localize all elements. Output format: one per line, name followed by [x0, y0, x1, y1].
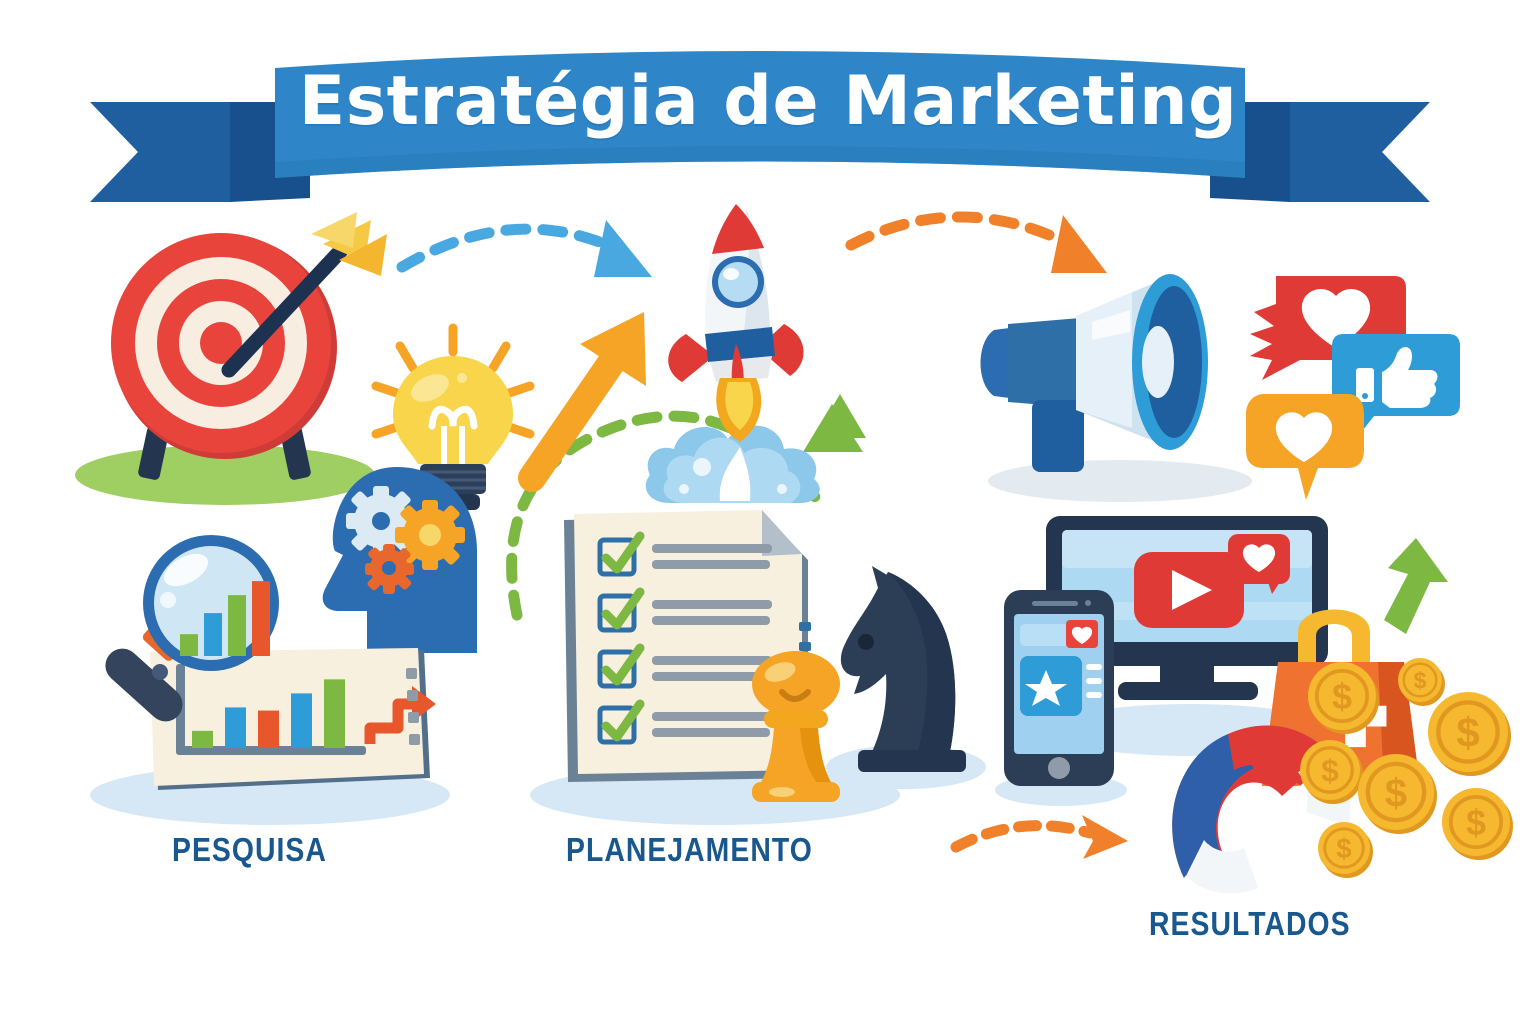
arrow-pesquisa-to-planejamento: [390, 195, 680, 305]
coin-2: $: [1398, 658, 1445, 706]
coin-4: $: [1300, 740, 1363, 804]
arrow-to-resultados-bottom: [950, 805, 1140, 875]
cloud-hole-1: [693, 458, 711, 476]
rocket-nose: [712, 204, 764, 254]
arrow-growth-orange: [508, 300, 658, 490]
checklist-line-2-1: [652, 600, 772, 609]
knight-base: [858, 750, 966, 772]
dashed-arc-blue: [402, 229, 612, 267]
cloud-hole-3: [777, 484, 787, 494]
monitor-base: [1118, 682, 1258, 700]
knight-nostril: [858, 634, 874, 650]
magnifier-icon: [88, 528, 308, 738]
checklist-line-1-1: [652, 544, 772, 553]
chess-pawn-icon: [736, 648, 856, 808]
porthole-glare: [723, 268, 739, 280]
play-button-icon: [1134, 552, 1244, 628]
cloud-hole-2: [679, 484, 689, 494]
pawn-collar: [764, 710, 828, 728]
coin-1: $: [1308, 662, 1379, 734]
bulb-glass: [393, 356, 513, 464]
phone-heart-badge: [1066, 620, 1098, 648]
coin-3: $: [1428, 692, 1511, 776]
stage-label-pesquisa: PESQUISA: [172, 831, 327, 869]
phone-list-lines: [1086, 664, 1102, 698]
head-gears-icon: [305, 455, 485, 665]
coin-symbol-6: $: [1466, 803, 1486, 843]
coin-symbol-7: $: [1336, 833, 1351, 864]
rocket-porthole-glass: [718, 262, 758, 302]
dashed-arc-orange-2: [956, 826, 1090, 847]
checklist-line-2-2: [652, 616, 770, 625]
megaphone-handle-block: [1008, 318, 1080, 408]
coin-7: $: [1318, 822, 1373, 878]
coin-symbol-2: $: [1414, 667, 1427, 693]
smartphone-icon: [996, 586, 1126, 806]
dart-shaft: [229, 244, 347, 370]
bulb-highlight-dot: [457, 373, 467, 383]
banner-left-tail: [90, 102, 230, 202]
infographic-canvas: Estratégia de Marketing: [0, 0, 1536, 1024]
magnifier-handle-dot: [152, 664, 168, 680]
stage-label-resultados: RESULTADOS: [1149, 905, 1351, 943]
rocket-icon: [658, 196, 823, 446]
heart-bubble-orange-icon: [1240, 388, 1370, 508]
coin-symbol-1: $: [1332, 677, 1352, 717]
coin-symbol-5: $: [1385, 771, 1407, 815]
arrow-growth-green: [810, 390, 870, 450]
lens-bar-1: [180, 634, 198, 656]
lens-glare-2: [160, 592, 176, 608]
phone-camera: [1085, 600, 1091, 606]
megaphone-bell-core: [1142, 326, 1174, 398]
checklist-line-1-2: [652, 560, 770, 569]
phone-speaker: [1032, 601, 1078, 606]
megaphone-grip-2: [1032, 400, 1084, 472]
pawn-head: [752, 651, 840, 717]
pawn-base-highlight: [769, 787, 795, 797]
lens-bar-3: [228, 595, 246, 656]
arrowhead-blue: [594, 220, 652, 277]
lens-bar-2: [204, 613, 222, 656]
stage-label-planejamento: PLANEJAMENTO: [566, 831, 813, 869]
pawn-base: [752, 782, 840, 802]
coin-6: $: [1442, 788, 1513, 860]
lens-bar-4: [252, 581, 270, 656]
coins-group: $$$$$$$: [1300, 640, 1536, 890]
phone-home-button: [1048, 757, 1070, 779]
dashed-arc-orange: [851, 217, 1063, 245]
gear-orange: [365, 544, 414, 594]
green-arrowhead: [814, 394, 866, 438]
orange-arrow-shaft: [532, 356, 616, 478]
banner-right-tail: [1290, 102, 1430, 202]
coin-symbol-4: $: [1321, 752, 1339, 788]
phone-row-bar: [1020, 624, 1070, 646]
megaphone-icon: [980, 260, 1240, 480]
coin-symbol-3: $: [1456, 709, 1479, 756]
coin-5: $: [1358, 754, 1437, 834]
chart-bar-5: [324, 679, 345, 748]
